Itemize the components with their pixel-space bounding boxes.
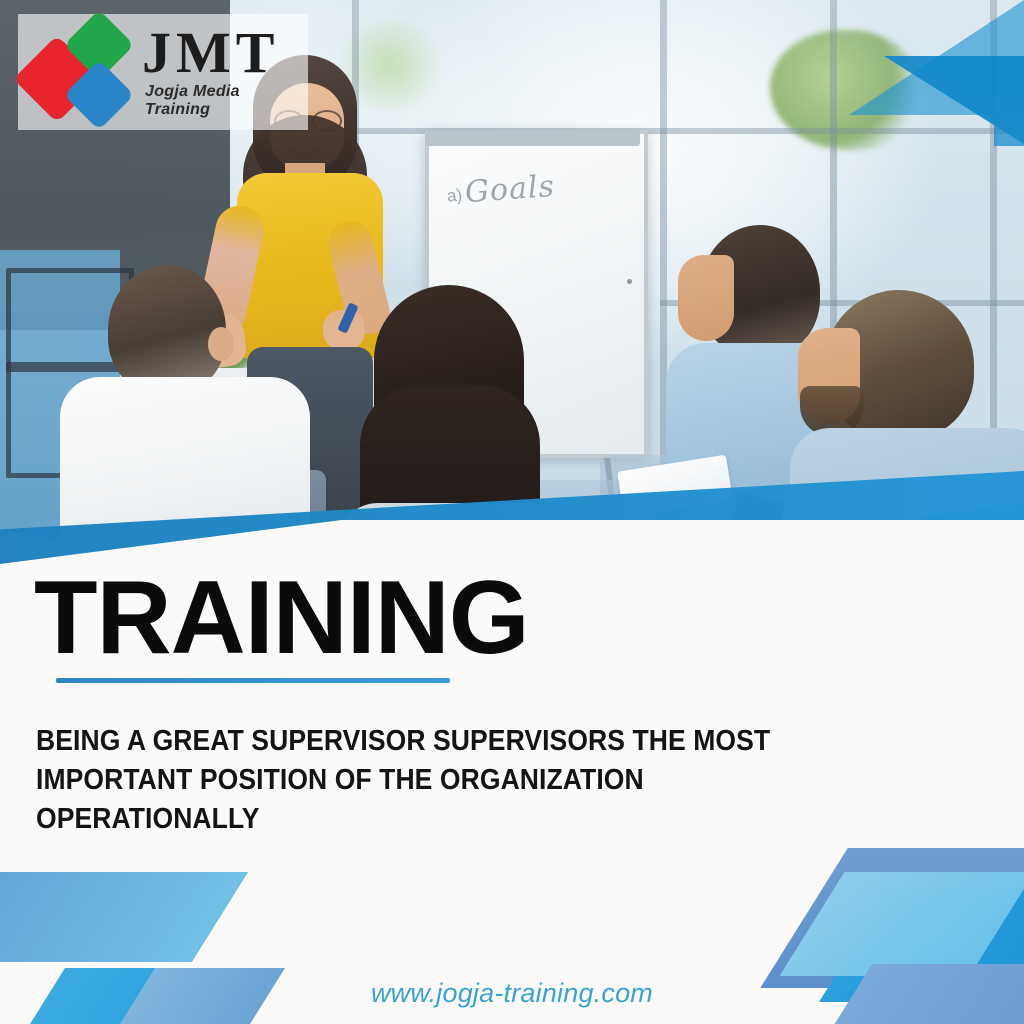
flipchart-clamp <box>425 130 640 146</box>
attendee-face <box>678 255 734 341</box>
title-underline <box>56 678 450 683</box>
training-poster: a) Goals <box>0 0 1024 1024</box>
attendee-white-shirt <box>60 265 320 545</box>
attendee-ear <box>208 327 234 361</box>
decorative-parallelogram-main <box>0 872 248 962</box>
flipchart-magnet <box>627 279 632 284</box>
page-title: TRAINING <box>34 566 529 670</box>
logo-diamonds-icon <box>18 18 138 126</box>
jmt-logo[interactable]: JMT Jogja Media Training <box>18 14 308 130</box>
flipchart-handwriting: Goals <box>464 169 556 210</box>
flipchart-bullet: a) <box>446 185 463 206</box>
subtitle-text: BEING A GREAT SUPERVISOR SUPERVISORS THE… <box>36 722 873 838</box>
logo-title: JMT <box>142 25 308 80</box>
logo-tagline: Jogja Media Training <box>145 83 308 119</box>
website-url[interactable]: www.jogja-training.com <box>0 978 1024 1009</box>
logo-text-block: JMT Jogja Media Training <box>142 25 308 118</box>
attendee-head <box>108 265 226 395</box>
